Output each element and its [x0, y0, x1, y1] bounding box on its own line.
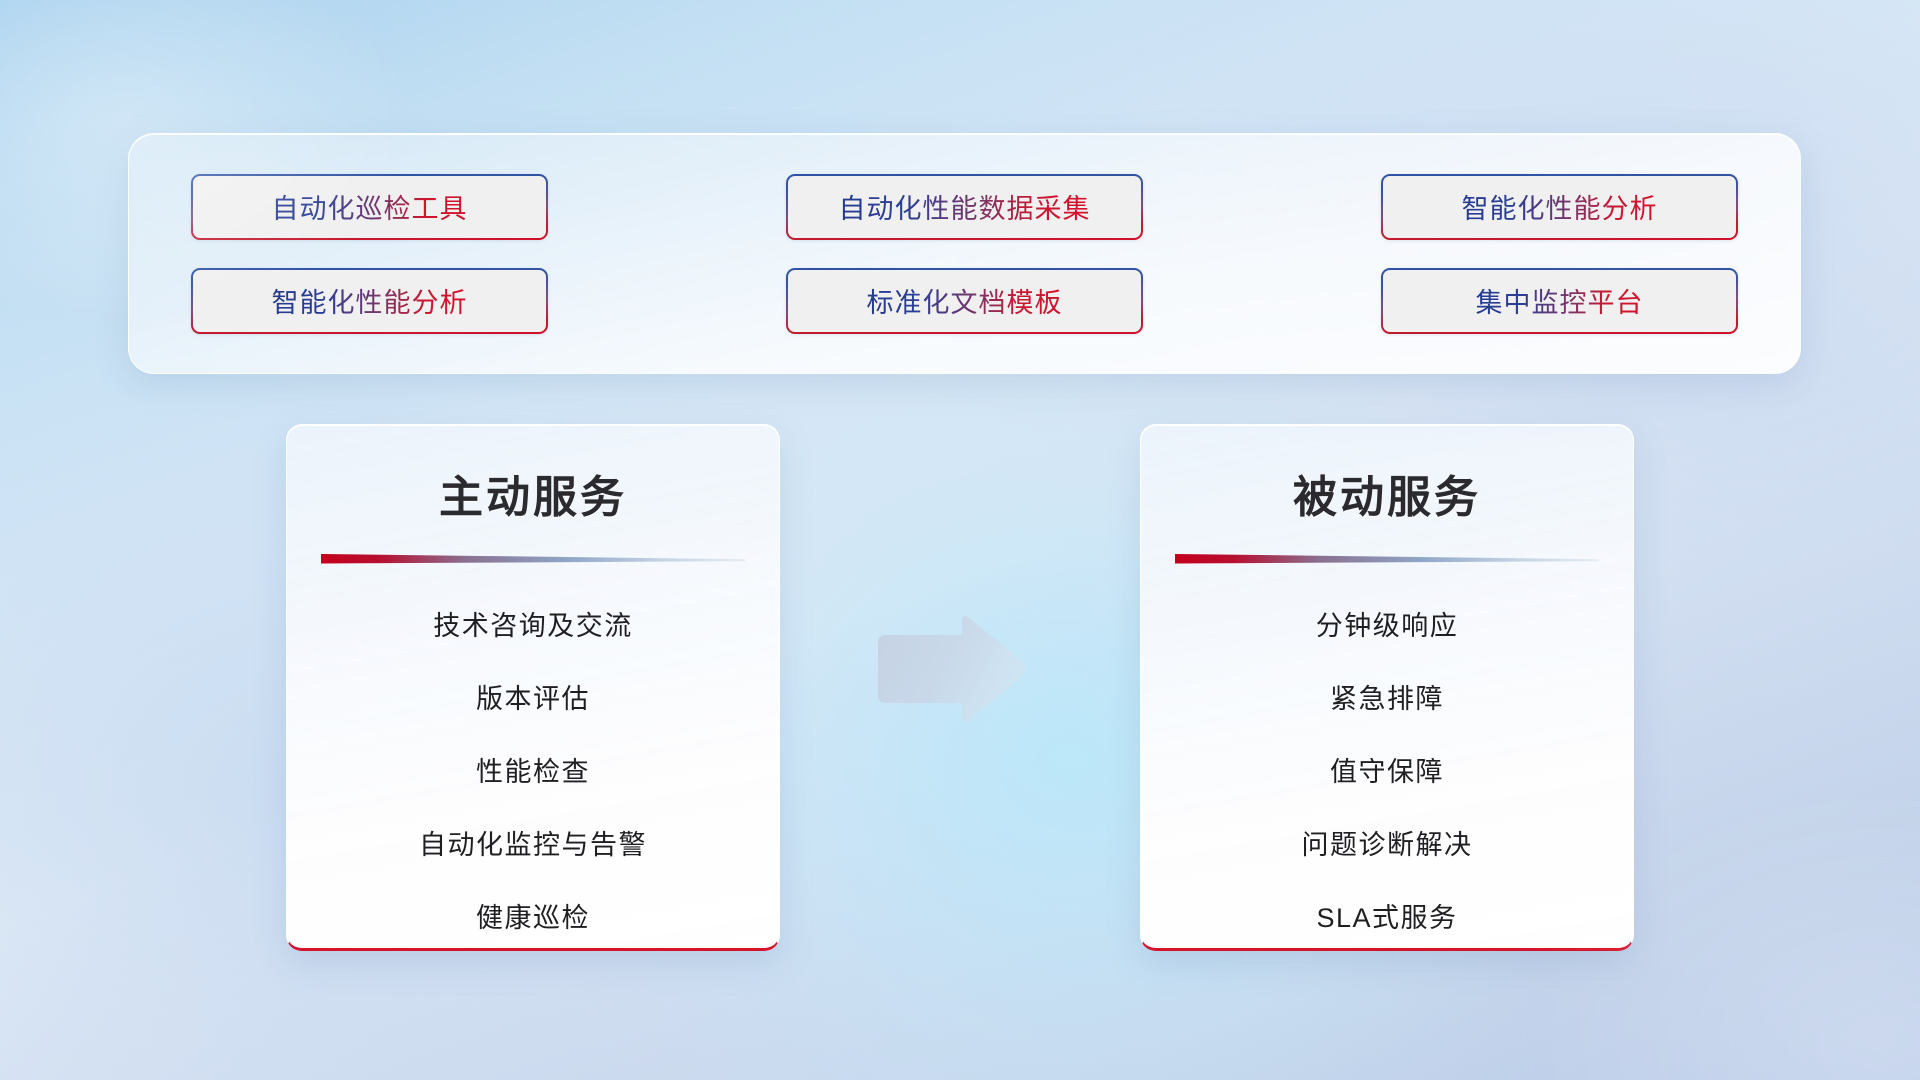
list-item: 自动化监控与告警	[419, 809, 647, 882]
list-item: 性能检查	[476, 736, 590, 809]
list-item: 技术咨询及交流	[433, 590, 633, 663]
capability-pill-automated-inspection-tool[interactable]: 自动化巡检工具	[191, 174, 548, 240]
list-item: 紧急排障	[1330, 663, 1444, 736]
capability-row-1: 自动化巡检工具 自动化性能数据采集 智能化性能分析	[191, 174, 1738, 240]
capability-pill-intelligent-performance-analysis-2[interactable]: 智能化性能分析	[191, 268, 548, 334]
list-item: 版本评估	[476, 663, 590, 736]
capability-pill-label: 集中监控平台	[1476, 281, 1644, 320]
list-item: SLA式服务	[1316, 882, 1457, 951]
list-item: 值守保障	[1330, 736, 1444, 809]
arrow-right-icon	[870, 613, 1030, 725]
card-title: 主动服务	[439, 461, 627, 525]
capability-pill-standardized-document-template[interactable]: 标准化文档模板	[786, 268, 1143, 334]
card-divider	[1175, 553, 1599, 564]
capability-pill-label: 标准化文档模板	[867, 281, 1063, 320]
card-item-list: 分钟级响应 紧急排障 值守保障 问题诊断解决 SLA式服务	[1141, 590, 1633, 951]
capability-panel: 自动化巡检工具 自动化性能数据采集 智能化性能分析 智能化性能分析 标准化文档模…	[128, 133, 1801, 374]
card-title: 被动服务	[1293, 461, 1481, 525]
slide-canvas: 自动化巡检工具 自动化性能数据采集 智能化性能分析 智能化性能分析 标准化文档模…	[0, 0, 1920, 1080]
list-item: 问题诊断解决	[1302, 809, 1473, 882]
service-card-proactive[interactable]: 主动服务 技术咨询及交流 版本评估 性能检查	[286, 424, 780, 951]
list-item: 分钟级响应	[1316, 590, 1459, 663]
capability-pill-label: 智能化性能分析	[272, 281, 468, 320]
capability-row-2: 智能化性能分析 标准化文档模板 集中监控平台	[191, 268, 1738, 334]
capability-pill-automated-performance-data-collection[interactable]: 自动化性能数据采集	[786, 174, 1143, 240]
service-card-reactive[interactable]: 被动服务 分钟级响应 紧急排障 值守保障	[1140, 424, 1634, 951]
list-item: 健康巡检	[476, 882, 590, 951]
card-divider	[321, 553, 745, 564]
capability-pill-label: 自动化性能数据采集	[839, 187, 1091, 226]
capability-pill-label: 智能化性能分析	[1462, 187, 1658, 226]
capability-pill-intelligent-performance-analysis[interactable]: 智能化性能分析	[1381, 174, 1738, 240]
card-item-list: 技术咨询及交流 版本评估 性能检查 自动化监控与告警 健康巡检	[287, 590, 779, 951]
capability-pill-centralized-monitoring-platform[interactable]: 集中监控平台	[1381, 268, 1738, 334]
capability-pill-label: 自动化巡检工具	[272, 187, 468, 226]
